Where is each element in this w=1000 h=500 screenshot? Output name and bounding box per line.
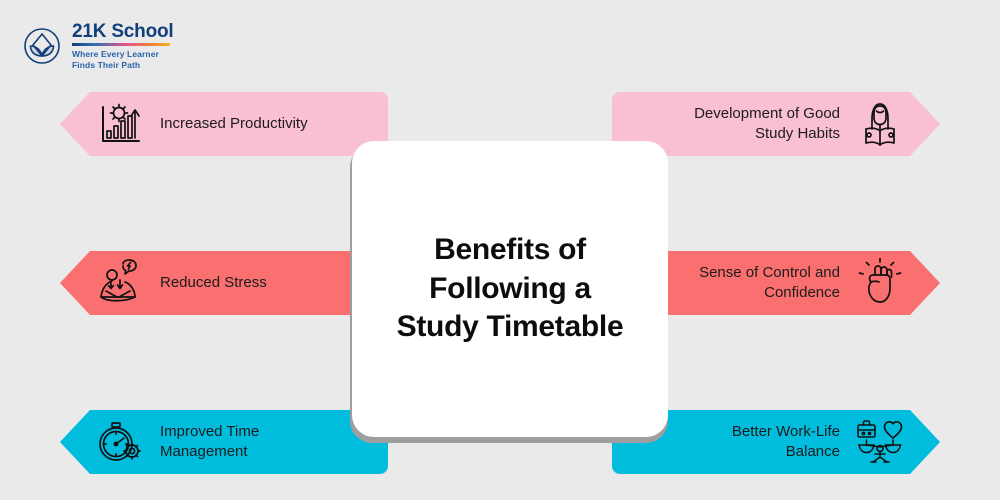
lotus-circle-icon xyxy=(20,24,64,68)
benefit-banner-improved-time-management[interactable]: Improved Time Management xyxy=(60,410,388,474)
balance-scale-briefcase-heart-icon xyxy=(854,416,906,468)
raised-fist-icon xyxy=(854,257,906,309)
stopwatch-gear-icon xyxy=(94,416,146,468)
logo-gradient-rule xyxy=(72,43,170,46)
benefit-banner-reduced-stress[interactable]: Reduced Stress xyxy=(60,251,388,315)
person-reading-book-icon xyxy=(854,98,906,150)
benefit-label: Increased Productivity xyxy=(160,114,308,134)
benefit-banner-increased-productivity[interactable]: Increased Productivity xyxy=(60,92,388,156)
meditating-person-icon xyxy=(94,257,146,309)
benefit-label: Reduced Stress xyxy=(160,273,267,293)
logo-wordmark: 21K School xyxy=(72,22,173,41)
benefit-label: Sense of Control and Confidence xyxy=(699,263,840,304)
benefit-label: Improved Time Management xyxy=(160,422,259,463)
brand-logo[interactable]: 21K School Where Every Learner Finds The… xyxy=(20,22,173,70)
logo-tagline-line-1: Where Every Learner xyxy=(72,49,173,60)
benefit-label: Better Work-Life Balance xyxy=(732,422,840,463)
logo-tagline-line-2: Finds Their Path xyxy=(72,60,173,71)
logo-text-block: 21K School Where Every Learner Finds The… xyxy=(72,22,173,70)
benefit-label: Development of Good Study Habits xyxy=(694,104,840,145)
center-card: Benefits of Following a Study Timetable xyxy=(352,141,668,437)
productivity-chart-gear-icon xyxy=(94,98,146,150)
page-title: Benefits of Following a Study Timetable xyxy=(397,231,624,346)
